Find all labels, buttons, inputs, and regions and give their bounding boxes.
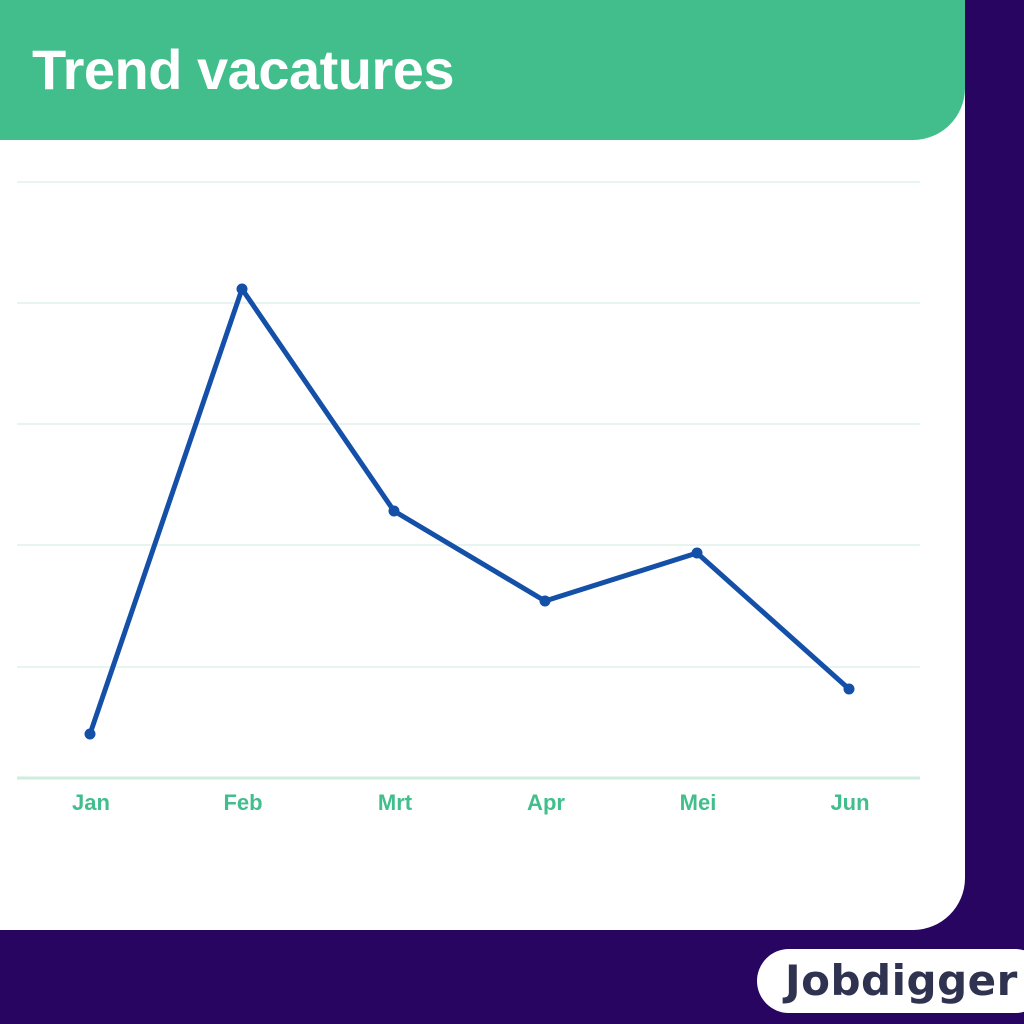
x-tick-label-jan: Jan [72, 788, 110, 818]
data-point-apr [540, 596, 551, 607]
data-point-mei [692, 548, 703, 559]
data-points [85, 284, 855, 740]
jobdigger-logo-text: Jobdigger [785, 957, 1018, 1005]
x-tick-label-apr: Apr [527, 788, 565, 818]
x-tick-label-feb: Feb [223, 788, 262, 818]
data-point-jun [844, 684, 855, 695]
data-point-mrt [389, 506, 400, 517]
line-chart: Jan Feb Mrt Apr Mei Jun [0, 140, 965, 840]
gridlines [17, 182, 920, 667]
chart-plot-area [0, 140, 965, 840]
x-axis-tick-labels: Jan Feb Mrt Apr Mei Jun [0, 788, 940, 828]
poster-canvas: Trend vacatures [0, 0, 1024, 1024]
brand-logo-pill: Jobdigger [757, 949, 1024, 1013]
page-title: Trend vacatures [32, 36, 454, 104]
data-point-jan [85, 729, 96, 740]
header-band: Trend vacatures [0, 0, 965, 140]
data-point-feb [237, 284, 248, 295]
x-tick-label-mei: Mei [680, 788, 717, 818]
x-tick-label-jun: Jun [830, 788, 869, 818]
x-tick-label-mrt: Mrt [378, 788, 412, 818]
